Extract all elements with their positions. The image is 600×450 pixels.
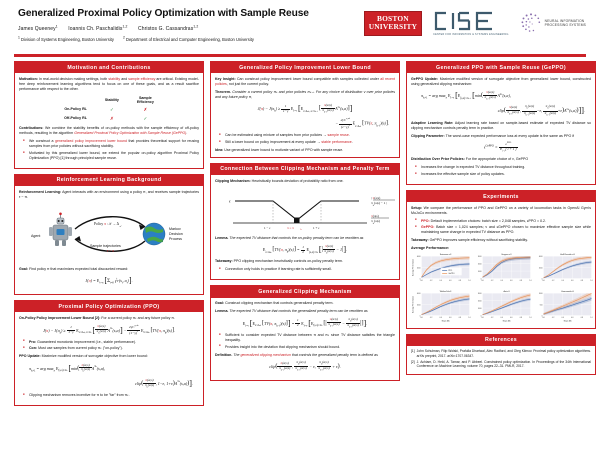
chart-ylabel: Average Performance <box>411 295 414 312</box>
svg-text:0.6: 0.6 <box>571 281 573 283</box>
chart-panel: 050010000.00.20.40.60.81.0Humanoid-v3Ste… <box>533 289 593 322</box>
svg-text:2000: 2000 <box>478 300 482 302</box>
panel-body: Setup: We compare the performance of PPO… <box>407 202 595 327</box>
svg-text:1000: 1000 <box>539 293 543 295</box>
svg-text:0.4: 0.4 <box>440 281 442 283</box>
row-label-off-policy: Off-Policy RL <box>55 114 96 123</box>
panel-body: Key Insight: Can construct policy improv… <box>211 73 399 157</box>
geppo-update-equation: πk+1 = arg maxπ Ei~ν [E(s,a)~πk−i [min(π… <box>411 90 591 102</box>
panel-title: Reinforcement Learning Background <box>15 175 203 186</box>
table-row: Off-Policy RL ✗ ✓ <box>55 114 163 123</box>
list-item: Con: Must use samples from current polic… <box>23 346 199 351</box>
table-row: On-Policy RL ✓ ✗ <box>55 105 163 114</box>
contributions-bullets: We construct a generalized policy improv… <box>23 139 199 161</box>
svg-text:0.6: 0.6 <box>510 281 512 283</box>
chart-panel-title: Humanoid-v3 <box>561 291 574 293</box>
mdp-label-2: Decision <box>169 232 183 236</box>
svg-text:2000: 2000 <box>417 268 421 270</box>
panel-title: Connection Between Clipping Mechanism an… <box>211 164 399 175</box>
panel-title: Generalized Clipping Mechanism <box>211 286 399 297</box>
list-item: Sufficient to consider expected TV dista… <box>219 333 395 343</box>
mdp-label-3: Process <box>169 237 182 241</box>
table-header-row: Stability SampleEfficiency <box>55 95 163 106</box>
panel-title: Motivation and Contributions <box>15 62 203 73</box>
svg-text:0.2: 0.2 <box>491 317 493 319</box>
svg-text:0.4: 0.4 <box>501 317 503 319</box>
neurips-label: NEURAL INFORMATION PROCESSING SYSTEMS <box>545 19 586 28</box>
clip-tick-mid: π = π <box>287 226 294 230</box>
experiments-takeaway: Takeaway: GePPO improves sample efficien… <box>411 238 591 243</box>
average-performance-label: Average Performance: <box>411 246 591 251</box>
clipping-parameter: Clipping Parameter: The worst-case expec… <box>411 134 591 139</box>
svg-text:1000: 1000 <box>478 307 482 309</box>
panel-experiments: Experiments Setup: We compare the perfor… <box>406 190 596 329</box>
chart-xlabel: Steps (M) <box>503 319 511 322</box>
panel-lower-bound: Generalized Policy Improvement Lower Bou… <box>210 61 400 158</box>
panel-title: Generalized Policy Improvement Lower Bou… <box>211 62 399 73</box>
performance-chart-grid: 0200040000.00.20.40.60.81.0Swimmer-v3Ave… <box>411 252 591 323</box>
list-item: Connection only holds in practice if lea… <box>219 267 395 272</box>
chart-panel: 0200040000.00.20.40.60.81.0HalfCheetah-v… <box>533 252 593 285</box>
panel-title: Experiments <box>407 191 595 202</box>
svg-text:0.2: 0.2 <box>491 281 493 283</box>
svg-text:0.6: 0.6 <box>449 281 451 283</box>
svg-text:0.0: 0.0 <box>481 317 483 319</box>
svg-text:0.4: 0.4 <box>562 281 564 283</box>
svg-text:0.2: 0.2 <box>552 317 554 319</box>
mdp-label-1: Markov <box>169 227 181 231</box>
svg-text:0.8: 0.8 <box>520 281 522 283</box>
panel-body: GePPO Update: Maximize modified version … <box>407 73 595 184</box>
row-label-on-policy: On-Policy RL <box>55 105 96 114</box>
list-item: We construct a generalized policy improv… <box>23 139 199 149</box>
header-text-block: Generalized Proximal Policy Optimization… <box>18 8 364 42</box>
clip-eps-tick: ϵ <box>229 198 231 203</box>
chart-panel-wrapper: 0200040000.00.20.40.60.81.0HalfCheetah-v… <box>533 252 593 287</box>
clip-tick-right: 1 + ϵ <box>313 226 320 230</box>
cise-mark-icon <box>433 11 495 31</box>
panel-body: On-Policy Policy Improvement Lower Bound… <box>15 312 203 405</box>
author-list: James Queeney1 Ioannis Ch. Paschalidis1,… <box>18 25 364 33</box>
chart-panel-title: Hopper-v3 <box>502 254 513 257</box>
svg-text:πk(a|s) − 1 |: πk(a|s) − 1 | <box>371 201 387 207</box>
clipping-plot-svg: ϵ 1 − ϵ π = π k 1 + ϵ | π(a|s) πk(a|s) −… <box>215 187 397 231</box>
ppo-update-equation-cont: clip(π(a|s)πk(a|s), 1−ϵ, 1+ϵ)Aπk(s,a))]. <box>19 378 199 390</box>
check-icon: ✓ <box>110 107 114 112</box>
svg-text:k: k <box>301 228 303 231</box>
svg-text:0.6: 0.6 <box>571 317 573 319</box>
list-item: Pro: Guaranteed monotonic improvement (i… <box>23 340 199 345</box>
ppo-bullets: Pro: Guaranteed monotonic improvement (i… <box>23 340 199 352</box>
reference-item: [1] John Schulman, Filip Wolski, Prafull… <box>411 349 591 358</box>
panel-references: References [1] John Schulman, Filip Wols… <box>406 334 596 376</box>
rl-goal: Goal: Find policy π that maximizes expec… <box>19 267 199 272</box>
svg-text:4000: 4000 <box>539 257 543 259</box>
connection-bullets: Connection only holds in practice if lea… <box>219 267 395 272</box>
affiliation-entry: 1 Division of Systems Engineering, Bosto… <box>18 37 114 42</box>
idea-statement: Idea: Use generalized lower bound to mot… <box>215 148 395 153</box>
adaptive-learning-rate: Adaptive Learning Rate: Adjust learning … <box>411 121 591 131</box>
neurips-swirl-icon <box>520 12 542 34</box>
svg-text:2000: 2000 <box>539 268 543 270</box>
svg-text:0.4: 0.4 <box>501 281 503 283</box>
affiliation-entry: 2 Department of Electrical and Computer … <box>123 37 254 42</box>
column-right: Generalized PPO with Sample Reuse (GePPO… <box>406 61 596 406</box>
cise-subtitle: CENTER FOR INFORMATION & SYSTEMS ENGINEE… <box>433 33 509 36</box>
sample-traj-label-1: Sample trajectories <box>90 244 121 248</box>
list-item: Increases the change in expected TV dist… <box>415 165 591 170</box>
panel-title: Generalized PPO with Sample Reuse (GePPO… <box>407 62 595 73</box>
svg-text:0.0: 0.0 <box>542 317 544 319</box>
chart-panel-wrapper: 01000200030000.00.20.40.60.81.0Ant-v3Ste… <box>472 289 532 324</box>
panel-body: [1] John Schulman, Filip Wolski, Prafull… <box>407 346 595 375</box>
panel-generalized-clipping: Generalized Clipping Mechanism Goal: Con… <box>210 285 400 381</box>
poster-columns: Motivation and Contributions Motivation:… <box>0 57 600 406</box>
svg-text:4000: 4000 <box>417 293 421 295</box>
sample-traj-label-2: τ ~ π <box>107 249 114 253</box>
chart-panel: 01000200030000.00.20.40.60.81.0Ant-v3Ste… <box>472 289 532 322</box>
svg-text:3000: 3000 <box>478 293 482 295</box>
col-header-stability: Stability <box>96 95 128 106</box>
svg-text:3000: 3000 <box>478 257 482 259</box>
svg-text:0.0: 0.0 <box>542 281 544 283</box>
clip-tick-left: 1 − ϵ <box>264 226 271 230</box>
chart-ylabel: Average Performance <box>411 259 414 276</box>
svg-text:0.8: 0.8 <box>459 317 461 319</box>
ppo-lower-bound-equation: J(π) − J(πk) ≥ 11−γ Es~dπk, a~πk [π(a|s)… <box>19 325 199 337</box>
svg-text:0.8: 0.8 <box>520 317 522 319</box>
svg-text:0.8: 0.8 <box>581 317 583 319</box>
panel-motivation: Motivation and Contributions Motivation:… <box>14 61 204 169</box>
reference-item: [2] J. Achiam, D. Held, A. Tamar, and P.… <box>411 360 591 369</box>
svg-text:1.0: 1.0 <box>529 281 531 283</box>
cell-on-policy-efficiency: ✗ <box>128 105 163 114</box>
gen-clipping-definition-equation: clip(π(a|s)πk−i(a|s), πk(a|s)πk−i(a|s) −… <box>215 361 395 373</box>
geppo-update-equation-cont: clip(π(a|s)πk−i(a|s), πk(a|s)πk−i(a|s)−ϵ… <box>411 105 591 117</box>
agent-label: Agent <box>31 234 40 238</box>
goal-equation: J(π) = Eτ~π [Σt=0 γtr(st, at)]. <box>19 275 199 287</box>
svg-text:1.0: 1.0 <box>590 317 592 319</box>
author-entry: Christos G. Cassandras1,2 <box>138 26 198 32</box>
cross-icon: ✗ <box>144 107 148 112</box>
chart-legend-label: GePPO <box>448 274 455 276</box>
list-item: Clipping mechanism removes incentive for… <box>23 393 199 398</box>
neurips-logo: NEURAL INFORMATION PROCESSING SYSTEMS <box>520 12 586 34</box>
panel-ppo: Proximal Policy Optimization (PPO) On-Po… <box>14 300 204 406</box>
panel-body: Motivation: In real-world decision makin… <box>15 73 203 168</box>
clipping-mechanism-intro: Clipping Mechanism: Heuristically bounds… <box>215 179 395 184</box>
poster-root: Generalized Proximal Policy Optimization… <box>0 0 600 450</box>
environment-globe-icon <box>143 223 165 245</box>
svg-text:2000: 2000 <box>417 304 421 306</box>
clip-x-label: π(a|s) <box>371 214 380 218</box>
gen-clipping-lemma-equation: Ei~ν [Es~dπk [TV(π, πk−i)(s)]] = 12 Ei~ν… <box>215 318 395 330</box>
affiliation-list: 1 Division of Systems Engineering, Bosto… <box>18 36 364 42</box>
panel-body: Goal: Construct clipping mechanism that … <box>211 298 399 381</box>
ppo-final-bullets: Clipping mechanism removes incentive for… <box>23 393 199 398</box>
page-title: Generalized Proximal Policy Optimization… <box>18 8 364 20</box>
ppo-update-equation: πk+1 = arg maxπ E(s,a)~πk [min(π(a|s)πk(… <box>19 363 199 375</box>
svg-text:πk(a|s): πk(a|s) <box>371 219 381 225</box>
chart-panel-wrapper: 050010000.00.20.40.60.81.0Humanoid-v3Ste… <box>533 289 593 324</box>
svg-text:1000: 1000 <box>478 271 482 273</box>
distribution-prior-policies: Distribution Over Prior Policies: For th… <box>411 157 591 162</box>
generalized-lower-bound-equation: J(π) − J(πk) ≥ 11−γ Ei~ν [Es~dπk, a~πk−i… <box>215 103 395 115</box>
list-item: Increases the effective sample size of p… <box>415 172 591 177</box>
clipping-parameter-equation: ϵGePPO = ϵPPOEi~ν[ i + 1 ] <box>411 142 591 154</box>
gen-clipping-bullets: Sufficient to consider expected TV dista… <box>219 333 395 350</box>
list-item: Motivated by this generalized lower boun… <box>23 151 199 161</box>
connection-lemma: Lemma. The expected TV distance that con… <box>215 236 395 241</box>
rl-diagram-svg: Agent Markov Decision Process Policy π :… <box>19 203 201 265</box>
svg-text:0.0: 0.0 <box>420 281 422 283</box>
rl-definition: Reinforcement Learning: Agent interacts … <box>19 190 199 200</box>
chart-panel-title: Walker2d-v3 <box>440 290 452 293</box>
connection-takeaway: Takeaway: PPO clipping mechanism heurist… <box>215 259 395 264</box>
panel-title: Proximal Policy Optimization (PPO) <box>15 301 203 312</box>
chart-panel: 0200040000.00.20.40.60.81.0Walker2d-v3St… <box>411 289 471 322</box>
panel-geppo: Generalized PPO with Sample Reuse (GePPO… <box>406 61 596 185</box>
svg-text:0.2: 0.2 <box>430 281 432 283</box>
clipping-plot: ϵ 1 − ϵ π = π k 1 + ϵ | π(a|s) πk(a|s) −… <box>215 187 395 233</box>
contributions-paragraph: Contributions: We combine the stability … <box>19 126 199 136</box>
list-item: Can be estimated using mixture of sample… <box>219 133 395 138</box>
svg-text:4000: 4000 <box>417 257 421 259</box>
svg-text:0.4: 0.4 <box>562 317 564 319</box>
svg-text:0.8: 0.8 <box>581 281 583 283</box>
svg-text:0.0: 0.0 <box>420 317 422 319</box>
chart-panel: 01000200030000.00.20.40.60.81.0Hopper-v3 <box>472 252 532 285</box>
chart-panel-wrapper: 01000200030000.00.20.40.60.81.0Hopper-v3 <box>472 252 532 287</box>
logo-group: BOSTON UNIVERSITY CENTER FOR INFORMATION… <box>364 8 586 36</box>
rl-loop-diagram: Agent Markov Decision Process Policy π :… <box>19 203 199 265</box>
chart-panel-title: Swimmer-v3 <box>440 254 452 257</box>
key-insight: Key Insight: Can construct policy improv… <box>215 77 395 87</box>
svg-text:1.0: 1.0 <box>529 317 531 319</box>
cise-logo: CENTER FOR INFORMATION & SYSTEMS ENGINEE… <box>433 11 509 36</box>
theorem-statement: Theorem. Consider a current policy πₖ an… <box>215 90 395 100</box>
chart-xlabel: Steps (M) <box>442 319 450 322</box>
svg-text:0.4: 0.4 <box>440 317 442 319</box>
author-entry: James Queeney1 <box>18 26 58 32</box>
cell-on-policy-stability: ✓ <box>96 105 128 114</box>
column-middle: Generalized Policy Improvement Lower Bou… <box>210 61 400 406</box>
cell-off-policy-stability: ✗ <box>96 114 128 123</box>
svg-text:1.0: 1.0 <box>590 281 592 283</box>
svg-text:0.6: 0.6 <box>449 317 451 319</box>
gen-clipping-lemma: Lemma. The expected TV distance that con… <box>215 309 395 314</box>
boston-university-logo: BOSTON UNIVERSITY <box>364 11 422 36</box>
check-icon: ✓ <box>144 116 148 121</box>
chart-panel: 0200040000.00.20.40.60.81.0Swimmer-v3Ave… <box>411 252 471 285</box>
column-left: Motivation and Contributions Motivation:… <box>14 61 204 406</box>
chart-panel-wrapper: 0200040000.00.20.40.60.81.0Walker2d-v3St… <box>411 289 471 324</box>
list-item: PPO: Default implementation choices: bat… <box>415 219 591 224</box>
panel-title: References <box>407 335 595 346</box>
generalized-lower-bound-equation-cont: − 2γCπ,πk(1−γ)2 Es~dπk [TV(π, πk−i)(s)]. <box>215 118 395 129</box>
policy-label: Policy π : 𝒮 → Δ𝒜 <box>94 222 122 228</box>
svg-text:0.0: 0.0 <box>481 281 483 283</box>
ppo-update-intro: PPO Update: Maximize modified version of… <box>19 354 199 359</box>
chart-panel-wrapper: 0200040000.00.20.40.60.81.0Swimmer-v3Ave… <box>411 252 471 287</box>
chart-xlabel: Steps (M) <box>564 319 572 322</box>
svg-text:0.8: 0.8 <box>459 281 461 283</box>
cross-icon: ✗ <box>110 116 114 121</box>
experiments-bullets: PPO: Default implementation choices: bat… <box>415 219 591 236</box>
chart-legend-label: PPO <box>448 271 452 273</box>
svg-text:0.2: 0.2 <box>430 317 432 319</box>
experiments-setup: Setup: We compare the performance of PPO… <box>411 206 591 216</box>
gen-clipping-goal: Goal: Construct clipping mechanism that … <box>215 301 395 306</box>
chart-panel-title: HalfCheetah-v3 <box>560 254 575 257</box>
author-entry: Ioannis Ch. Paschalidis1,2 <box>68 26 127 32</box>
connection-lemma-equation: Es~dπk [TV(π, πk)(s)] = 12 E(s,a)~πk [|π… <box>215 244 395 256</box>
geppo-update-intro: GePPO Update: Maximize modified version … <box>411 77 591 87</box>
svg-text:1.0: 1.0 <box>468 281 470 283</box>
col-header-blank <box>55 95 96 106</box>
panel-connection: Connection Between Clipping Mechanism an… <box>210 163 400 280</box>
gen-clipping-definition: Definition. The generalized clipping mec… <box>215 353 395 358</box>
panel-body: Reinforcement Learning: Agent interacts … <box>15 186 203 294</box>
list-item: Provides insight into the deviation that… <box>219 345 395 350</box>
svg-text:2000: 2000 <box>478 264 482 266</box>
svg-text:500: 500 <box>540 304 543 306</box>
poster-header: Generalized Proximal Policy Optimization… <box>0 0 600 52</box>
agent-robot-icon <box>49 212 72 246</box>
clip-y-label: | π(a|s) <box>371 196 381 200</box>
cell-off-policy-efficiency: ✓ <box>128 114 163 123</box>
svg-text:0.6: 0.6 <box>510 317 512 319</box>
col-header-efficiency: SampleEfficiency <box>128 95 163 106</box>
list-item: Still a lower bound on policy improvemen… <box>219 140 395 145</box>
lower-bound-bullets: Can be estimated using mixture of sample… <box>219 133 395 145</box>
list-item: GePPO: Batch size = 1,024 samples; ν and… <box>415 225 591 235</box>
svg-text:0.2: 0.2 <box>552 281 554 283</box>
geppo-bullets: Increases the change in expected TV dist… <box>415 165 591 177</box>
motivation-paragraph: Motivation: In real-world decision makin… <box>19 77 199 92</box>
panel-rl-background: Reinforcement Learning Background Reinfo… <box>14 174 204 295</box>
panel-body: Clipping Mechanism: Heuristically bounds… <box>211 175 399 279</box>
svg-text:1.0: 1.0 <box>468 317 470 319</box>
stability-efficiency-table: Stability SampleEfficiency On-Policy RL … <box>55 95 163 123</box>
ppo-lower-bound-intro: On-Policy Policy Improvement Lower Bound… <box>19 316 199 321</box>
chart-panel-title: Ant-v3 <box>503 290 510 293</box>
